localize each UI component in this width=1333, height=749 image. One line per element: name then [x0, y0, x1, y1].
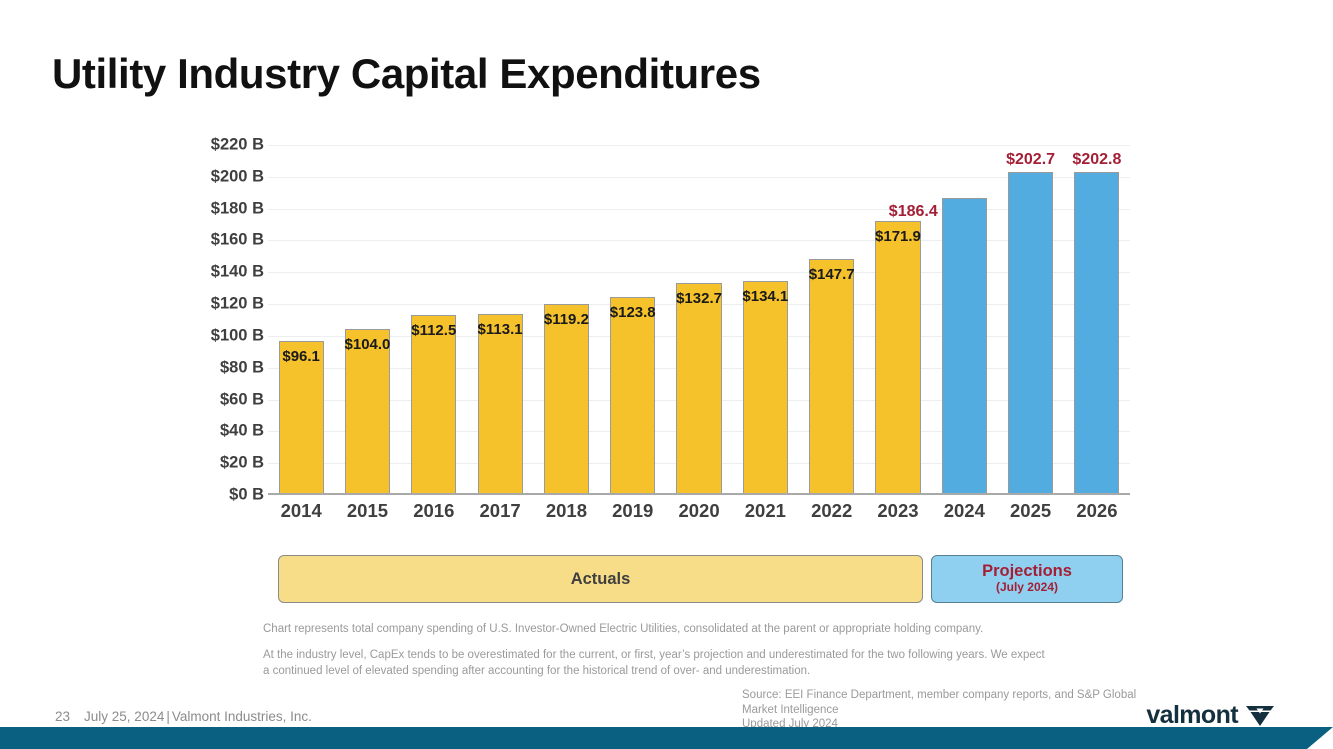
source-note: Source: EEI Finance Department, member c…	[742, 688, 1152, 732]
bar-value-label-2026: $202.8	[1072, 151, 1121, 169]
bar-2016[interactable]: $112.5	[411, 315, 456, 493]
bar-2015[interactable]: $104.0	[345, 329, 390, 494]
bar-value-label-2014: $96.1	[282, 348, 320, 365]
plot-area: $96.1$104.0$112.5$113.1$119.2$123.8$132.…	[268, 145, 1130, 495]
source-line-2: Market Intelligence	[742, 703, 1152, 718]
chart-container: $220 B$200 B$180 B$160 B$140 B$120 B$100…	[180, 145, 1130, 495]
bar-2019[interactable]: $123.8	[610, 297, 655, 493]
bar-2018[interactable]: $119.2	[544, 304, 589, 493]
bar-slot-2017: $113.1	[467, 145, 533, 493]
bar-2026[interactable]: $202.8	[1074, 172, 1119, 493]
bar-value-label-2017: $113.1	[478, 321, 523, 338]
bar-slot-2023: $171.9	[865, 145, 931, 493]
x-axis-tick-2024: 2024	[931, 500, 997, 530]
bar-2025[interactable]: $202.7	[1008, 172, 1053, 493]
source-line-1: Source: EEI Finance Department, member c…	[742, 688, 1152, 703]
bar-2020[interactable]: $132.7	[676, 283, 721, 493]
slide-date: July 25, 2024	[84, 709, 164, 724]
x-axis-tick-2016: 2016	[401, 500, 467, 530]
bar-slot-2015: $104.0	[334, 145, 400, 493]
y-axis-tick-label: $100 B	[180, 326, 264, 345]
y-axis-tick-label: $80 B	[180, 358, 264, 377]
x-axis-tick-2018: 2018	[533, 500, 599, 530]
bar-value-label-2020: $132.7	[676, 290, 722, 307]
bar-value-label-2021: $134.1	[742, 288, 788, 305]
y-axis: $220 B$200 B$180 B$160 B$140 B$120 B$100…	[180, 145, 264, 495]
x-axis-tick-2017: 2017	[467, 500, 533, 530]
y-axis-tick-label: $0 B	[180, 486, 264, 505]
x-axis-tick-2019: 2019	[600, 500, 666, 530]
footer-separator: |	[166, 709, 170, 724]
bar-value-label-2019: $123.8	[610, 304, 656, 321]
x-axis-tick-2020: 2020	[666, 500, 732, 530]
bar-2014[interactable]: $96.1	[279, 341, 324, 493]
bar-2024[interactable]: $186.4	[942, 198, 987, 493]
bar-slot-2019: $123.8	[600, 145, 666, 493]
legend-item-actuals[interactable]: Actuals	[278, 555, 923, 603]
valmont-logo: valmont	[1146, 703, 1275, 728]
page-title: Utility Industry Capital Expenditures	[52, 50, 761, 98]
y-axis-tick-label: $200 B	[180, 167, 264, 186]
slide-company: Valmont Industries, Inc.	[172, 709, 312, 724]
bar-value-label-2024: $186.4	[889, 203, 938, 221]
axis-baseline	[268, 493, 1130, 495]
slide-footer: 23July 25, 2024|Valmont Industries, Inc.	[55, 709, 312, 724]
y-axis-tick-label: $40 B	[180, 422, 264, 441]
slide-page-number: 23	[55, 709, 70, 724]
legend-projections-sublabel: (July 2024)	[996, 581, 1058, 595]
y-axis-tick-label: $120 B	[180, 295, 264, 314]
bar-slot-2016: $112.5	[401, 145, 467, 493]
x-axis-tick-2023: 2023	[865, 500, 931, 530]
bar-slot-2024: $186.4	[931, 145, 997, 493]
valmont-v-mark-icon	[1245, 704, 1275, 728]
bar-value-label-2015: $104.0	[345, 336, 391, 353]
bar-2022[interactable]: $147.7	[809, 259, 854, 493]
x-axis-tick-2022: 2022	[799, 500, 865, 530]
bar-value-label-2022: $147.7	[809, 266, 855, 283]
x-axis-tick-2026: 2026	[1064, 500, 1130, 530]
x-axis: 2014201520162017201820192020202120222023…	[268, 500, 1130, 530]
bar-slot-2026: $202.8	[1064, 145, 1130, 493]
bar-2021[interactable]: $134.1	[743, 281, 788, 493]
footnotes: Chart represents total company spending …	[263, 622, 1053, 690]
bar-slot-2020: $132.7	[666, 145, 732, 493]
y-axis-tick-label: $220 B	[180, 136, 264, 155]
y-axis-tick-label: $60 B	[180, 390, 264, 409]
bar-value-label-2025: $202.7	[1006, 151, 1055, 169]
y-axis-tick-label: $140 B	[180, 263, 264, 282]
y-axis-tick-label: $160 B	[180, 231, 264, 250]
x-axis-tick-2025: 2025	[997, 500, 1063, 530]
chart-legend: Actuals Projections (July 2024)	[278, 555, 1123, 603]
bar-slot-2018: $119.2	[533, 145, 599, 493]
y-axis-tick-label: $180 B	[180, 199, 264, 218]
bar-2017[interactable]: $113.1	[478, 314, 523, 493]
footnote-1: Chart represents total company spending …	[263, 622, 1053, 638]
bar-slot-2014: $96.1	[268, 145, 334, 493]
bar-2023[interactable]: $171.9	[875, 221, 920, 493]
footnote-2: At the industry level, CapEx tends to be…	[263, 648, 1053, 680]
x-axis-tick-2021: 2021	[732, 500, 798, 530]
legend-actuals-label: Actuals	[571, 570, 631, 589]
y-axis-tick-label: $20 B	[180, 454, 264, 473]
bar-slot-2022: $147.7	[799, 145, 865, 493]
footer-accent-bar	[0, 727, 1333, 749]
x-axis-tick-2015: 2015	[334, 500, 400, 530]
bar-value-label-2023: $171.9	[875, 228, 921, 245]
bar-value-label-2016: $112.5	[411, 322, 456, 339]
legend-item-projections[interactable]: Projections (July 2024)	[931, 555, 1123, 603]
bar-value-label-2018: $119.2	[544, 311, 589, 328]
x-axis-tick-2014: 2014	[268, 500, 334, 530]
bar-slot-2021: $134.1	[732, 145, 798, 493]
bar-series: $96.1$104.0$112.5$113.1$119.2$123.8$132.…	[268, 145, 1130, 493]
bar-slot-2025: $202.7	[997, 145, 1063, 493]
valmont-wordmark: valmont	[1146, 703, 1238, 728]
legend-projections-label: Projections	[982, 563, 1072, 580]
